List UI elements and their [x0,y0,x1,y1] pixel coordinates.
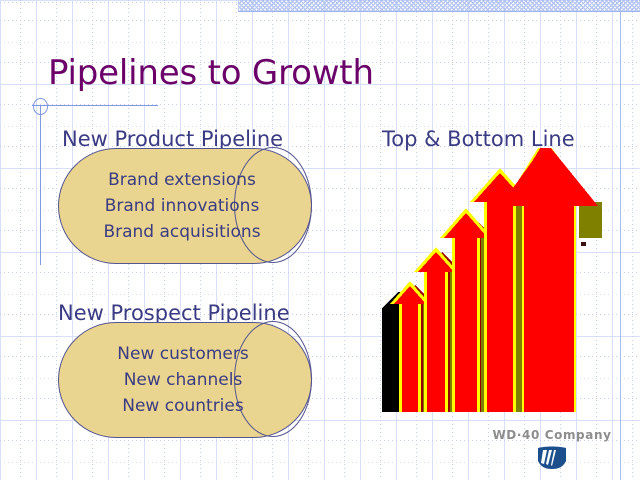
cylinder-text-list: Brand extensions Brand innovations Brand… [58,148,312,264]
decorative-horizontal-line [32,105,158,106]
decorative-circle-icon [33,98,48,115]
grid-band-underline [238,11,640,12]
list-item: New countries [122,393,243,419]
wd40-shield-logo-icon [537,446,567,474]
cylinder-new-prospect-pipeline: New customers New channels New countries [58,322,312,438]
growth-arrow-graphic [376,148,626,412]
company-name: WD·40 Company [482,428,622,442]
page-title: Pipelines to Growth [48,52,374,94]
decorative-vertical-line [40,105,41,265]
list-item: New customers [117,341,248,367]
cylinder-new-product-pipeline: Brand extensions Brand innovations Brand… [58,148,312,264]
footer-logo-block: WD·40 Company [482,428,622,474]
list-item: Brand innovations [105,193,260,219]
slide-canvas: Pipelines to Growth New Product Pipeline… [0,0,640,480]
list-item: Brand acquisitions [103,219,260,245]
grid-top-band [238,0,640,11]
list-item: New channels [124,367,243,393]
list-item: Brand extensions [108,167,256,193]
cylinder-text-list: New customers New channels New countries [58,322,312,438]
